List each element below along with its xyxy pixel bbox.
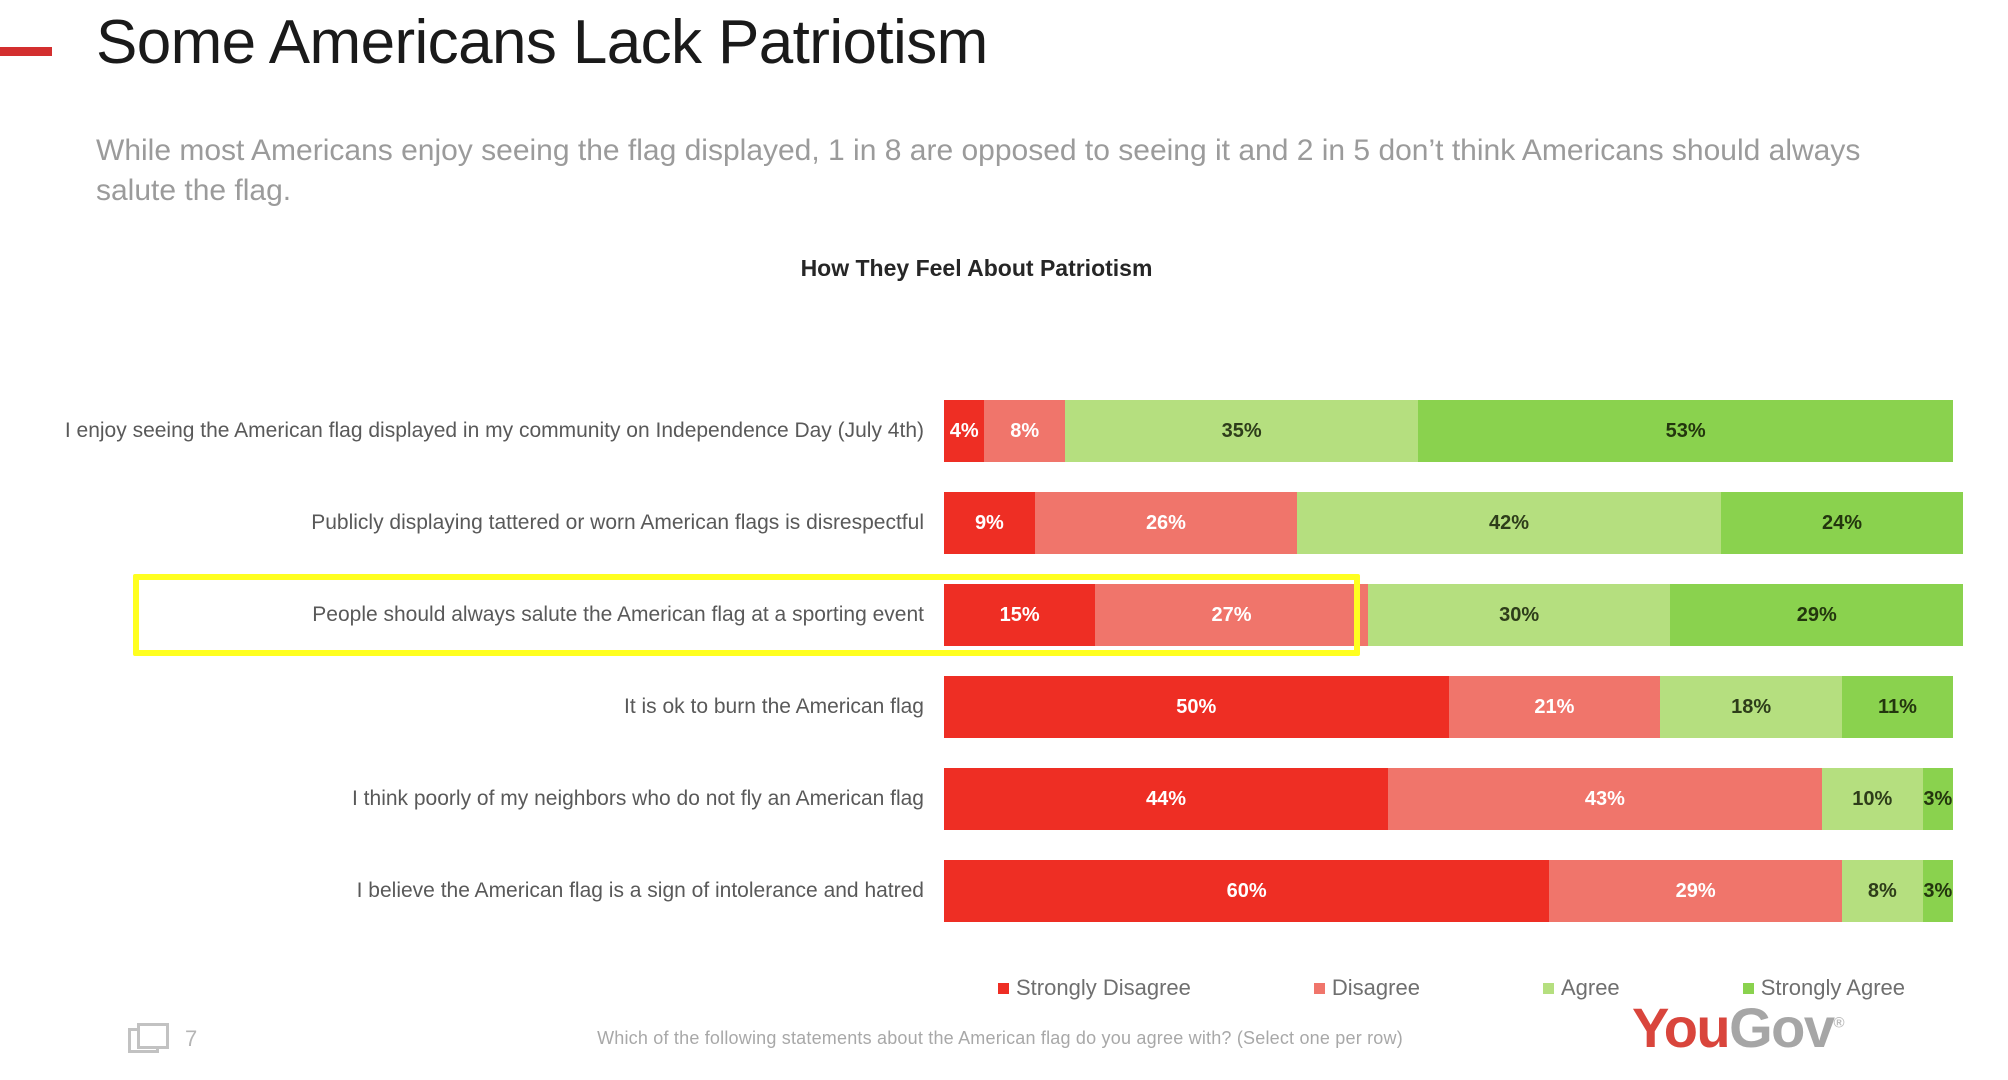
bar-segment-strongly-disagree: 50% <box>944 676 1449 738</box>
bar-segment-disagree: 43% <box>1388 768 1822 830</box>
chart-row: People should always salute the American… <box>0 584 1953 646</box>
chart-row-label: People should always salute the American… <box>0 584 930 646</box>
bar-segment-agree: 18% <box>1660 676 1842 738</box>
bar-segment-strongly-disagree: 9% <box>944 492 1035 554</box>
bar-segment-strongly-agree: 53% <box>1418 400 1953 462</box>
bar-segment-disagree: 29% <box>1549 860 1842 922</box>
stacked-bar-chart: I enjoy seeing the American flag display… <box>0 400 2008 955</box>
bar-segment-strongly-disagree: 60% <box>944 860 1549 922</box>
chart-row-label: I believe the American flag is a sign of… <box>0 860 930 922</box>
title-accent-dash <box>0 47 52 56</box>
chart-row-bars: 50%21%18%11% <box>944 676 1953 738</box>
legend-swatch-icon <box>1743 983 1754 994</box>
chart-title: How They Feel About Patriotism <box>0 255 1953 282</box>
legend-label: Agree <box>1561 975 1620 1001</box>
chart-row-label: I enjoy seeing the American flag display… <box>0 400 930 462</box>
bar-segment-strongly-agree: 29% <box>1670 584 1963 646</box>
bar-segment-strongly-disagree: 4% <box>944 400 984 462</box>
chart-row-label: I think poorly of my neighbors who do no… <box>0 768 930 830</box>
slides-icon <box>128 1022 170 1056</box>
legend-label: Disagree <box>1332 975 1420 1001</box>
bar-segment-disagree: 8% <box>984 400 1065 462</box>
chart-row-bars: 4%8%35%53% <box>944 400 1953 462</box>
yougov-logo: YouGov® <box>1632 1000 1843 1056</box>
bar-segment-strongly-disagree: 44% <box>944 768 1388 830</box>
chart-row-bars: 44%43%10%3% <box>944 768 1953 830</box>
bar-segment-disagree: 26% <box>1035 492 1297 554</box>
bar-segment-strongly-disagree: 15% <box>944 584 1095 646</box>
bar-segment-agree: 30% <box>1368 584 1671 646</box>
chart-row-bars: 9%26%42%24% <box>944 492 1953 554</box>
legend-label: Strongly Disagree <box>1016 975 1191 1001</box>
bar-segment-strongly-agree: 3% <box>1923 860 1953 922</box>
legend-swatch-icon <box>1314 983 1325 994</box>
slide-canvas: Some Americans Lack Patriotism While mos… <box>0 0 2008 1080</box>
bar-segment-disagree: 27% <box>1095 584 1367 646</box>
logo-you: You <box>1632 996 1729 1059</box>
logo-trademark: ® <box>1834 1014 1844 1031</box>
chart-row: Publicly displaying tattered or worn Ame… <box>0 492 1953 554</box>
chart-row-label: Publicly displaying tattered or worn Ame… <box>0 492 930 554</box>
page-marker: 7 <box>128 1022 197 1056</box>
legend-swatch-icon <box>998 983 1009 994</box>
legend-item-disagree[interactable]: Disagree <box>1314 975 1420 1001</box>
bar-segment-strongly-agree: 24% <box>1721 492 1963 554</box>
legend-item-strongly-disagree[interactable]: Strongly Disagree <box>998 975 1191 1001</box>
bar-segment-strongly-agree: 3% <box>1923 768 1953 830</box>
chart-row: I think poorly of my neighbors who do no… <box>0 768 1953 830</box>
bar-segment-agree: 8% <box>1842 860 1923 922</box>
legend-item-agree[interactable]: Agree <box>1543 975 1620 1001</box>
chart-row-bars: 60%29%8%3% <box>944 860 1953 922</box>
page-title: Some Americans Lack Patriotism <box>96 7 988 78</box>
bar-segment-agree: 42% <box>1297 492 1721 554</box>
bar-segment-disagree: 21% <box>1449 676 1661 738</box>
bar-segment-agree: 35% <box>1065 400 1418 462</box>
logo-gov: Gov <box>1729 996 1833 1059</box>
chart-row-bars: 15%27%30%29% <box>944 584 1953 646</box>
survey-question-note: Which of the following statements about … <box>480 1028 1520 1049</box>
chart-row: I enjoy seeing the American flag display… <box>0 400 1953 462</box>
bar-segment-agree: 10% <box>1822 768 1923 830</box>
chart-row: I believe the American flag is a sign of… <box>0 860 1953 922</box>
page-number: 7 <box>185 1026 197 1052</box>
page-subtitle: While most Americans enjoy seeing the fl… <box>96 131 1896 210</box>
legend-swatch-icon <box>1543 983 1554 994</box>
chart-row: It is ok to burn the American flag50%21%… <box>0 676 1953 738</box>
chart-row-label: It is ok to burn the American flag <box>0 676 930 738</box>
bar-segment-strongly-agree: 11% <box>1842 676 1953 738</box>
